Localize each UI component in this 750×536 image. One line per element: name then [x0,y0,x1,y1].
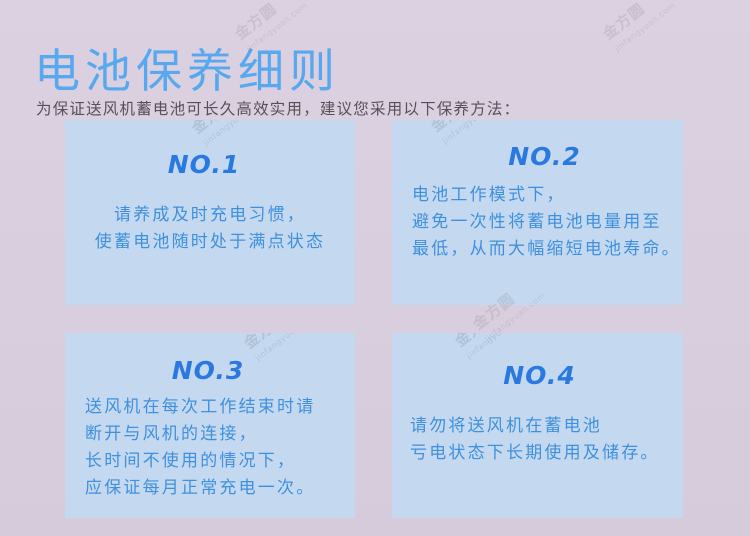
tip-card-line: 使蓄电池随时处于满点状态 [65,229,355,256]
watermark-subtext: jinfangyuan.com [199,120,268,151]
tip-card-content: NO.1 请养成及时充电习惯， 使蓄电池随时处于满点状态 [65,150,355,305]
watermark-text: 金方圆 [599,0,648,43]
watermark-text: 金方圆 [240,333,289,352]
tip-card-line: 应保证每月正常充电一次。 [85,475,355,502]
tip-card-content: NO.2 电池工作模式下， 避免一次性将蓄电池电量用至 最低，从而大幅缩短电池寿… [392,142,683,305]
watermark-text: 金方圆 [231,0,280,43]
tip-card-line: 最低，从而大幅缩短电池寿命。 [412,236,683,263]
tip-card-text: 请养成及时充电习惯， 使蓄电池随时处于满点状态 [65,202,355,256]
tip-card-1: 金方圆 jinfangyuan.com NO.1 请养成及时充电习惯， 使蓄电池… [65,120,355,305]
tip-card-line: 断开与风机的连接， [85,421,355,448]
tip-card-badge: NO.4 [396,361,683,391]
page-title: 电池保养细则 [34,43,340,99]
tip-card-badge: NO.3 [65,356,355,386]
watermark-subtext: jinfangyuan.com [610,0,679,57]
battery-maintenance-infographic: 金方圆 jinfangyuan.com 金方圆 jinfangyuan.com … [0,0,750,536]
tip-card-line: 请勿将送风机在蓄电池 [410,413,683,440]
card-watermark: 金方圆 jinfangyuan.com [189,120,268,151]
tip-card-badge: NO.2 [406,142,683,172]
tip-card-badge: NO.1 [65,150,355,180]
tip-card-line: 长时间不使用的情况下， [85,448,355,475]
tip-card-4: 金方圆 jinfangyuan.com NO.4 请勿将送风机在蓄电池 亏电状态… [392,333,683,518]
watermark-subtext: jinfangyuan.com [462,333,531,364]
watermark-text: 金方圆 [451,333,500,350]
tip-card-text: 请勿将送风机在蓄电池 亏电状态下长期使用及储存。 [392,413,683,467]
watermark-text: 金方圆 [427,120,476,135]
tip-card-line: 送风机在每次工作结束时请 [85,394,355,421]
tip-card-text: 电池工作模式下， 避免一次性将蓄电池电量用至 最低，从而大幅缩短电池寿命。 [392,182,683,263]
background-watermark: 金方圆 jinfangyuan.com [600,0,679,57]
watermark-text: 金方圆 [188,120,237,137]
page-subtitle: 为保证送风机蓄电池可长久高效实用，建议您采用以下保养方法： [36,98,520,120]
tip-card-content: NO.4 请勿将送风机在蓄电池 亏电状态下长期使用及储存。 [392,361,683,518]
card-watermark: 金方圆 jinfangyuan.com [452,333,531,364]
tip-card-line: 电池工作模式下， [412,182,683,209]
tip-card-line: 避免一次性将蓄电池电量用至 [412,209,683,236]
tip-card-line: 请养成及时充电习惯， [65,202,355,229]
tip-card-text: 送风机在每次工作结束时请 断开与风机的连接， 长时间不使用的情况下， 应保证每月… [65,394,355,502]
tip-card-line: 亏电状态下长期使用及储存。 [410,440,683,467]
tip-card-3: 金方圆 jinfangyuan.com NO.3 送风机在每次工作结束时请 断开… [65,333,355,518]
tip-card-grid: 金方圆 jinfangyuan.com NO.1 请养成及时充电习惯， 使蓄电池… [65,120,683,518]
tip-card-2: 金方圆 jinfangyuan.com NO.2 电池工作模式下， 避免一次性将… [392,120,683,305]
tip-card-content: NO.3 送风机在每次工作结束时请 断开与风机的连接， 长时间不使用的情况下， … [65,356,355,518]
